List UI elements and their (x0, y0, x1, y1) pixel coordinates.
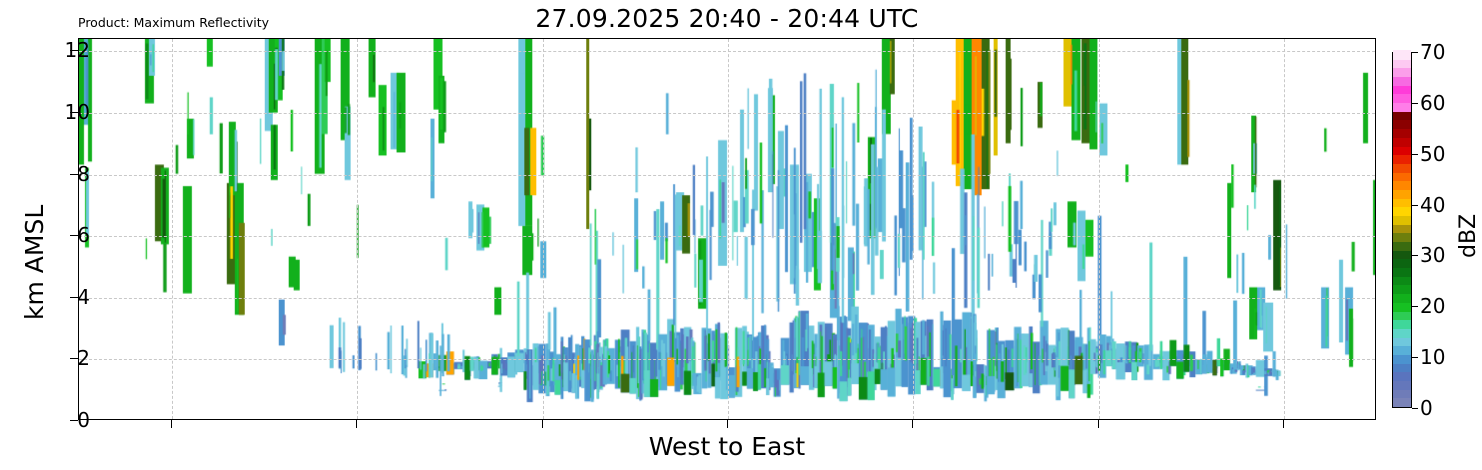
colorbar-band (1393, 146, 1411, 155)
colorbar-band (1393, 337, 1411, 346)
colorbar-band (1393, 346, 1411, 355)
gridline-vertical (543, 39, 544, 419)
colorbar-tick-label: 50 (1420, 142, 1445, 166)
x-axis-tick-mark (727, 420, 728, 428)
colorbar-band (1393, 85, 1411, 94)
colorbar-band (1393, 320, 1411, 329)
gridline-horizontal (79, 175, 1375, 176)
colorbar-tick-mark (1412, 255, 1418, 256)
colorbar-band (1393, 207, 1411, 216)
colorbar-band (1393, 76, 1411, 85)
colorbar-band (1393, 294, 1411, 303)
y-axis-tick-mark (70, 358, 78, 359)
colorbar-tick-label: 20 (1420, 294, 1445, 318)
colorbar-tick-mark (1412, 52, 1418, 53)
gridline-horizontal (79, 236, 1375, 237)
colorbar-band (1393, 181, 1411, 190)
colorbar-band (1393, 189, 1411, 198)
colorbar-tick-label: 30 (1420, 243, 1445, 267)
x-axis-label: West to East (78, 432, 1376, 461)
colorbar-band (1393, 215, 1411, 224)
y-axis-tick-label: 0 (77, 408, 90, 432)
colorbar (1392, 52, 1412, 408)
colorbar-band (1393, 398, 1411, 407)
x-axis-tick-mark (912, 420, 913, 428)
y-axis-tick-mark (70, 50, 78, 51)
gridline-horizontal (79, 113, 1375, 114)
gridline-horizontal (79, 359, 1375, 360)
product-label: Product: Maximum Reflectivity (78, 15, 269, 30)
colorbar-band (1393, 233, 1411, 242)
y-axis-label: km AMSL (20, 205, 49, 320)
colorbar-tick-label: 10 (1420, 345, 1445, 369)
colorbar-band (1393, 59, 1411, 68)
colorbar-band (1393, 302, 1411, 311)
y-axis-tick-mark (70, 112, 78, 113)
colorbar-band (1393, 111, 1411, 120)
colorbar-tick-mark (1412, 408, 1418, 409)
colorbar-band (1393, 250, 1411, 259)
colorbar-tick-mark (1412, 103, 1418, 104)
colorbar-band (1393, 198, 1411, 207)
colorbar-band (1393, 129, 1411, 138)
gridline-vertical (357, 39, 358, 419)
colorbar-band (1393, 163, 1411, 172)
colorbar-band (1393, 328, 1411, 337)
colorbar-band (1393, 389, 1411, 398)
x-axis-tick-mark (542, 420, 543, 428)
colorbar-band (1393, 380, 1411, 389)
y-axis-tick-mark (70, 420, 78, 421)
colorbar-band (1393, 68, 1411, 77)
gridline-vertical (1284, 39, 1285, 419)
gridline-vertical (728, 39, 729, 419)
colorbar-band (1393, 103, 1411, 112)
page-title: 27.09.2025 20:40 - 20:44 UTC (78, 4, 1376, 33)
x-axis-tick-mark (1283, 420, 1284, 428)
y-axis-tick-mark (70, 235, 78, 236)
colorbar-band (1393, 276, 1411, 285)
colorbar-band (1393, 155, 1411, 164)
gridline-vertical (1099, 39, 1100, 419)
plot-area (78, 38, 1376, 420)
colorbar-tick-mark (1412, 306, 1418, 307)
x-axis-tick-mark (1098, 420, 1099, 428)
y-axis-tick-label: 4 (77, 285, 90, 309)
colorbar-band (1393, 224, 1411, 233)
y-axis-tick-mark (70, 174, 78, 175)
colorbar-tick-label: 70 (1420, 40, 1445, 64)
x-axis-tick-mark (171, 420, 172, 428)
colorbar-band (1393, 267, 1411, 276)
colorbar-tick-label: 40 (1420, 193, 1445, 217)
y-axis-tick-label: 6 (77, 223, 90, 247)
gridline-horizontal (79, 51, 1375, 52)
radar-cross-section-figure: 27.09.2025 20:40 - 20:44 UTC Product: Ma… (0, 0, 1482, 470)
colorbar-band (1393, 137, 1411, 146)
gridline-horizontal (79, 298, 1375, 299)
y-axis-tick-mark (70, 297, 78, 298)
colorbar-band (1393, 285, 1411, 294)
colorbar-band (1393, 241, 1411, 250)
colorbar-tick-mark (1412, 154, 1418, 155)
colorbar-band (1393, 172, 1411, 181)
colorbar-band (1393, 259, 1411, 268)
colorbar-tick-label: 60 (1420, 91, 1445, 115)
gridline-vertical (913, 39, 914, 419)
x-axis-tick-mark (356, 420, 357, 428)
gridline-vertical (172, 39, 173, 419)
colorbar-band (1393, 311, 1411, 320)
colorbar-band (1393, 363, 1411, 372)
y-axis-tick-label: 2 (77, 346, 90, 370)
colorbar-band (1393, 354, 1411, 363)
colorbar-tick-mark (1412, 205, 1418, 206)
reflectivity-heatmap (79, 39, 1375, 419)
colorbar-band (1393, 50, 1411, 59)
colorbar-tick-label: 0 (1420, 396, 1433, 420)
y-axis-tick-label: 8 (77, 162, 90, 186)
colorbar-label: dBZ (1456, 214, 1481, 258)
colorbar-band (1393, 372, 1411, 381)
colorbar-tick-mark (1412, 357, 1418, 358)
colorbar-band (1393, 94, 1411, 103)
colorbar-band (1393, 120, 1411, 129)
